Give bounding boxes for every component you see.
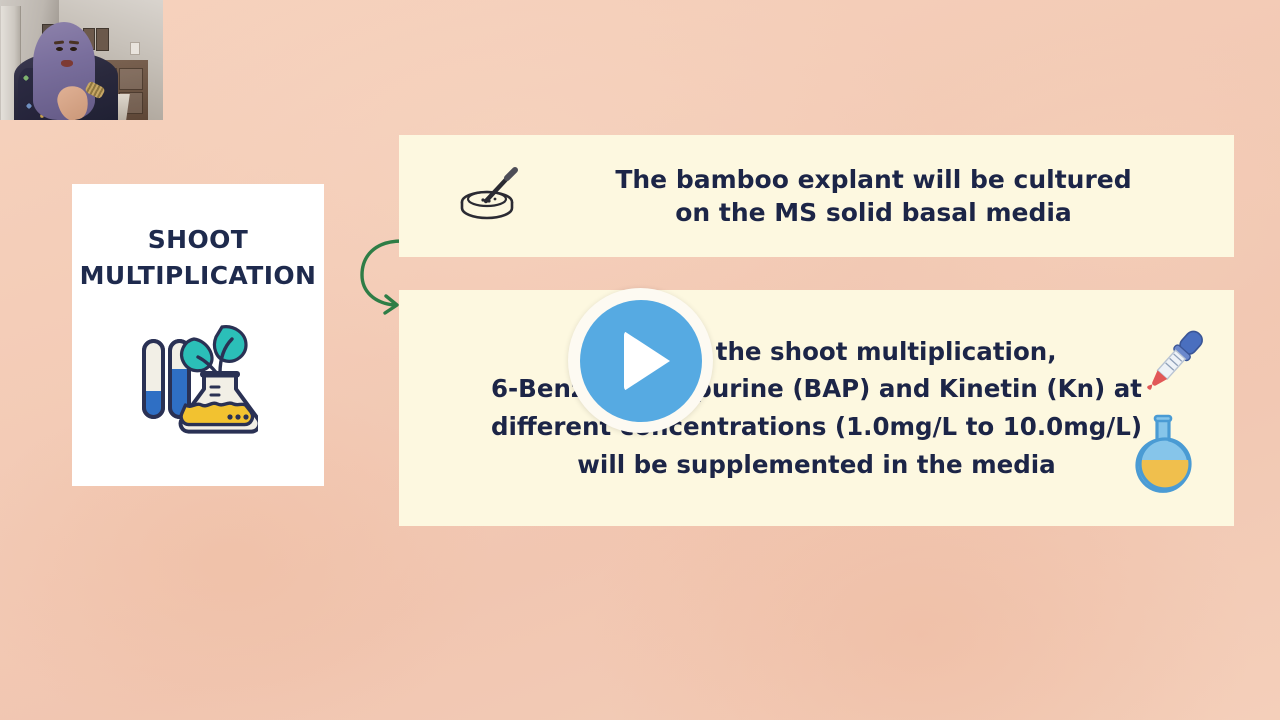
webcam-presenter-mouth <box>61 60 73 67</box>
card-title: SHOOT MULTIPLICATION <box>72 222 324 293</box>
webcam-presenter-eye <box>70 47 77 51</box>
box-2-line-4: will be supplemented in the media <box>425 446 1208 484</box>
presenter-webcam-feed[interactable] <box>0 0 163 120</box>
play-triangle-icon <box>624 331 670 391</box>
box-2-text: To induce the shoot multiplication, 6-Be… <box>425 333 1208 484</box>
shoot-multiplication-card: SHOOT MULTIPLICATION <box>72 184 324 486</box>
box-2-line-1: To induce the shoot multiplication, <box>425 333 1208 371</box>
box-1-line-1: The bamboo explant will be cultured <box>539 163 1208 196</box>
box-2-line-3: different concentrations (1.0mg/L to 10.… <box>425 408 1208 446</box>
webcam-presenter-eye <box>56 47 63 51</box>
content-box-growth-regulators: To induce the shoot multiplication, 6-Be… <box>399 290 1234 526</box>
box-1-text: The bamboo explant will be cultured on t… <box>539 163 1208 229</box>
card-title-line-2: MULTIPLICATION <box>80 261 317 290</box>
content-box-cultured-media: The bamboo explant will be cultured on t… <box>399 135 1234 257</box>
play-button-disc <box>580 300 702 422</box>
dropper-pipette-icon <box>1138 322 1210 404</box>
presentation-slide: SHOOT MULTIPLICATION <box>0 0 1280 720</box>
card-title-line-1: SHOOT <box>148 225 249 254</box>
webcam-wall-frame <box>96 28 109 51</box>
webcam-light-switch <box>130 42 140 55</box>
play-overlay-button[interactable] <box>568 288 713 433</box>
test-tubes-and-plant-flask-icon <box>138 319 258 439</box>
petri-dish-icon <box>457 166 523 226</box>
round-bottom-flask-icon <box>1130 414 1206 500</box>
box-1-line-2: on the MS solid basal media <box>539 196 1208 229</box>
box-2-line-2: 6-Benzylaminopurine (BAP) and Kinetin (K… <box>425 370 1208 408</box>
box-2-icon-group <box>1122 318 1218 498</box>
